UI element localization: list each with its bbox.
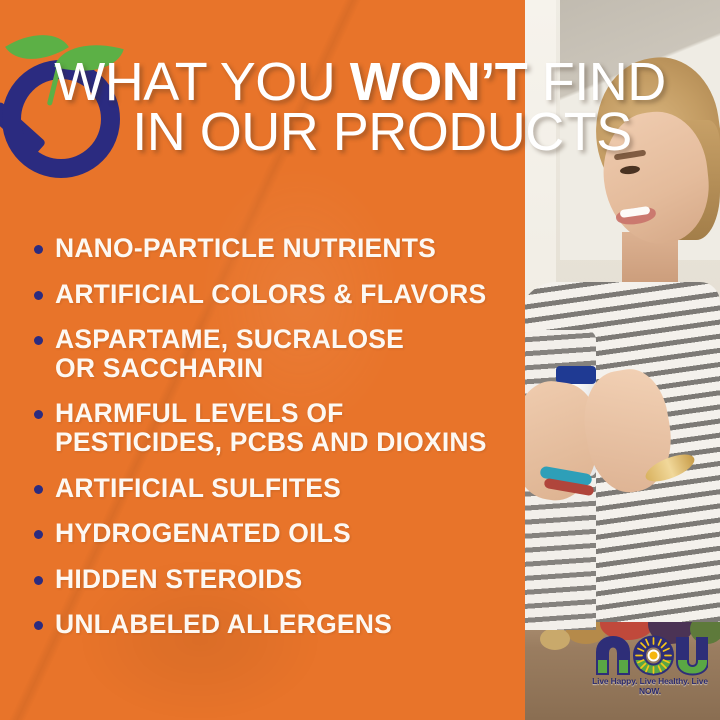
supplement-bottle-cap: [556, 366, 596, 384]
vegetable-garlic: [540, 628, 570, 650]
list-item: ASPARTAME, SUCRALOSEOR SACCHARIN: [34, 325, 514, 382]
list-item-label: ARTIFICIAL SULFITES: [55, 474, 341, 503]
bullet-dot-icon: [34, 576, 43, 585]
list-item-label: UNLABELED ALLERGENS: [55, 610, 392, 639]
exclusion-list: NANO-PARTICLE NUTRIENTS ARTIFICIAL COLOR…: [34, 234, 514, 656]
list-item: ARTIFICIAL SULFITES: [34, 474, 514, 503]
bullet-dot-icon: [34, 336, 43, 345]
now-logo-tagline: Live Happy. Live Healthy. Live NOW.: [587, 676, 713, 696]
list-item-label: ARTIFICIAL COLORS & FLAVORS: [55, 280, 486, 309]
sun-burst-icon: [636, 638, 671, 673]
list-item-label: NANO-PARTICLE NUTRIENTS: [55, 234, 436, 263]
list-item-label: HIDDEN STEROIDS: [55, 565, 302, 594]
bullet-dot-icon: [34, 530, 43, 539]
promo-poster: WHAT YOU WON’T FIND IN OUR PRODUCTS NANO…: [0, 0, 720, 720]
list-item: HARMFUL LEVELS OFPESTICIDES, PCBS AND DI…: [34, 399, 514, 456]
list-item-label: ASPARTAME, SUCRALOSEOR SACCHARIN: [55, 325, 404, 382]
bullet-dot-icon: [34, 291, 43, 300]
list-item: HIDDEN STEROIDS: [34, 565, 514, 594]
now-brand-logo[interactable]: Live Happy. Live Healthy. Live NOW.: [592, 630, 708, 692]
list-item-label: HARMFUL LEVELS OFPESTICIDES, PCBS AND DI…: [55, 399, 487, 456]
list-item: UNLABELED ALLERGENS: [34, 610, 514, 639]
bullet-dot-icon: [34, 410, 43, 419]
bullet-dot-icon: [34, 245, 43, 254]
now-logo-mark: [592, 630, 708, 676]
list-item: ARTIFICIAL COLORS & FLAVORS: [34, 280, 514, 309]
bullet-dot-icon: [34, 485, 43, 494]
headline-line-2: IN OUR PRODUCTS: [0, 108, 700, 158]
now-wordmark-icon: [592, 630, 708, 676]
bullet-dot-icon: [34, 621, 43, 630]
list-item: HYDROGENATED OILS: [34, 519, 514, 548]
page-title: WHAT YOU WON’T FIND IN OUR PRODUCTS: [0, 58, 700, 157]
list-item-label: HYDROGENATED OILS: [55, 519, 351, 548]
list-item: NANO-PARTICLE NUTRIENTS: [34, 234, 514, 263]
headline-line-1: WHAT YOU WON’T FIND: [0, 58, 700, 108]
